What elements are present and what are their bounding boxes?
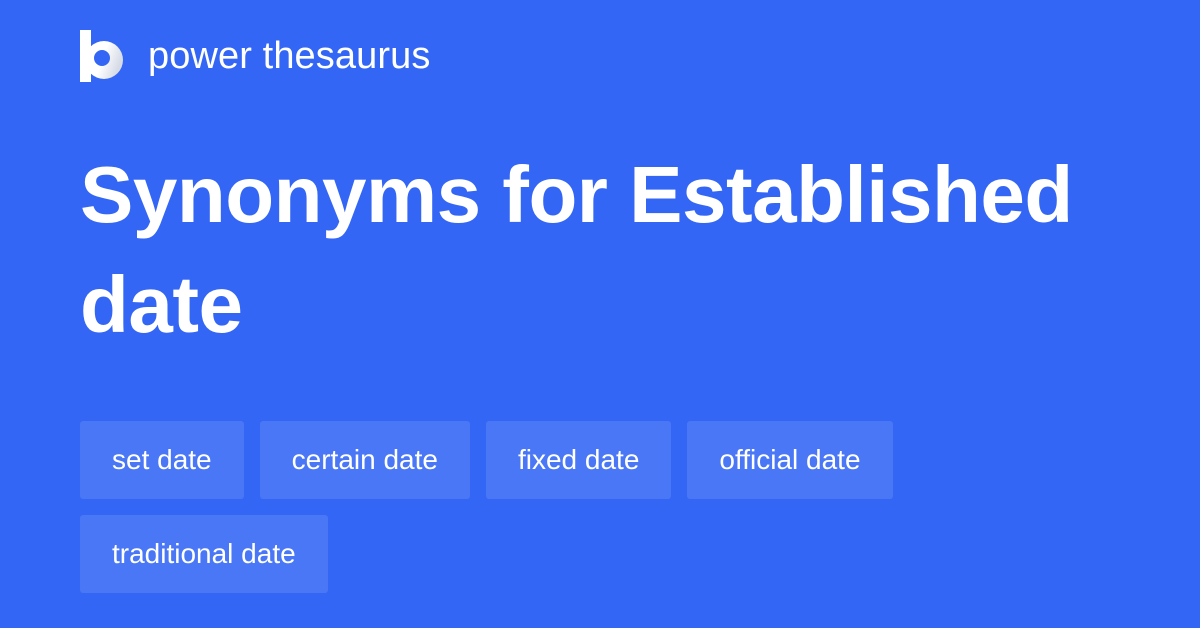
synonym-chip[interactable]: set date bbox=[80, 421, 244, 499]
synonym-chip[interactable]: fixed date bbox=[486, 421, 671, 499]
brand-name: power thesaurus bbox=[148, 37, 430, 75]
synonym-chip[interactable]: traditional date bbox=[80, 515, 328, 593]
synonym-chip[interactable]: official date bbox=[687, 421, 892, 499]
power-thesaurus-b-logo-icon bbox=[80, 30, 126, 82]
page-root: power thesaurus Synonyms for Established… bbox=[0, 0, 1200, 628]
synonym-chip-list: set date certain date fixed date officia… bbox=[80, 421, 1140, 593]
synonym-chip[interactable]: certain date bbox=[260, 421, 470, 499]
brand-header[interactable]: power thesaurus bbox=[80, 30, 430, 82]
page-title: Synonyms for Established date bbox=[80, 140, 1120, 360]
